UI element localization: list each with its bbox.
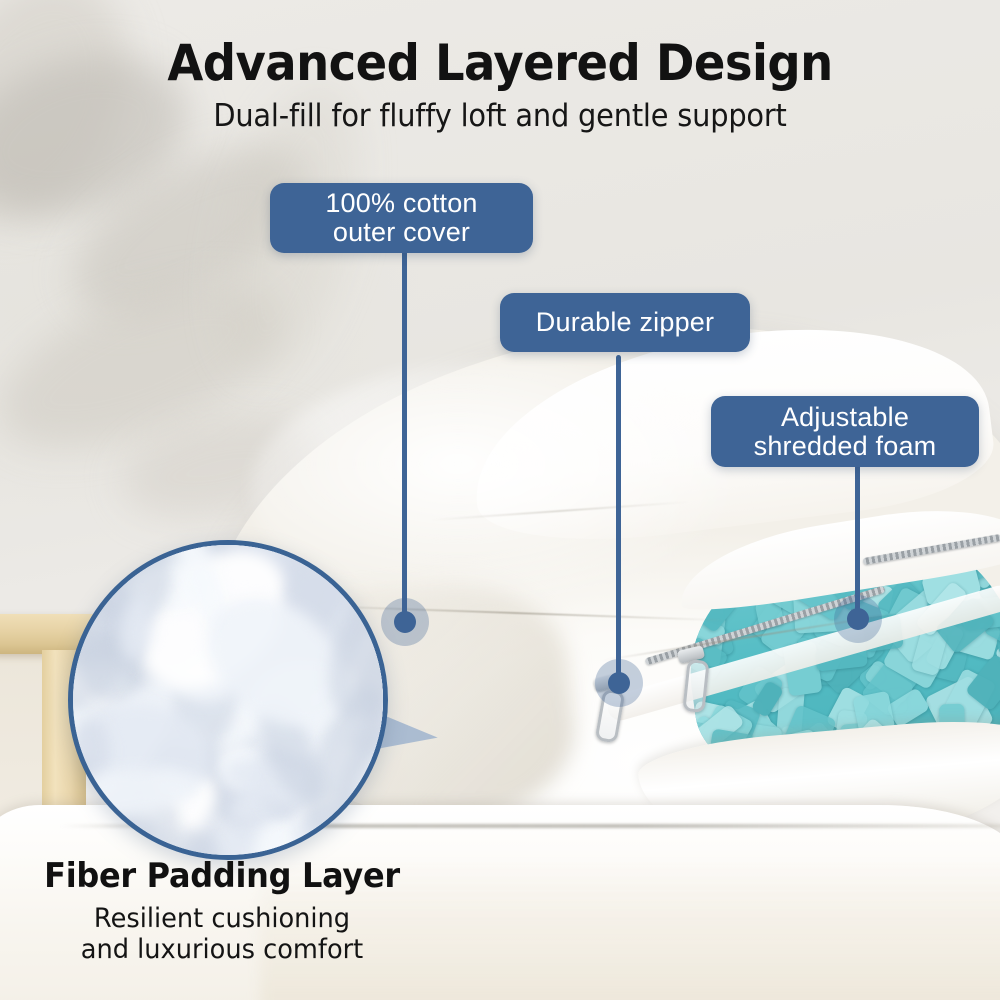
footer-caption-line1: Resilient cushioning (4, 903, 441, 934)
callout-zipper-line1: Durable zipper (536, 308, 714, 337)
footer-block: Fiber Padding Layer Resilient cushioning… (0, 856, 452, 966)
leader-line-foam (855, 464, 860, 616)
leader-dot-foam (847, 608, 869, 630)
page-title: Advanced Layered Design (35, 34, 965, 92)
footer-caption: Resilient cushioning and luxurious comfo… (4, 903, 441, 966)
leader-dot-zipper (608, 672, 630, 694)
footer-caption-line2: and luxurious comfort (4, 934, 441, 965)
magnifier-circle (68, 540, 388, 860)
header-block: Advanced Layered Design Dual-fill for fl… (0, 34, 1000, 134)
callout-cotton-line1: 100% cotton (325, 189, 477, 218)
callout-cotton-cover[interactable]: 100% cotton outer cover (270, 183, 533, 253)
callout-cotton-line2: outer cover (325, 218, 477, 247)
infographic-canvas: 100% cotton outer cover Durable zipper A… (0, 0, 1000, 1000)
leader-line-zipper (616, 355, 621, 680)
callout-foam-line2: shredded foam (754, 432, 937, 461)
bed-frame-shadow (0, 650, 46, 820)
page-subtitle: Dual-fill for fluffy loft and gentle sup… (35, 98, 965, 134)
leader-dot-cotton (394, 611, 416, 633)
callout-shredded-foam[interactable]: Adjustable shredded foam (711, 396, 979, 467)
footer-title: Fiber Padding Layer (6, 856, 438, 896)
callout-foam-line1: Adjustable (754, 403, 937, 432)
leader-line-cotton (402, 250, 407, 622)
callout-durable-zipper[interactable]: Durable zipper (500, 293, 750, 352)
